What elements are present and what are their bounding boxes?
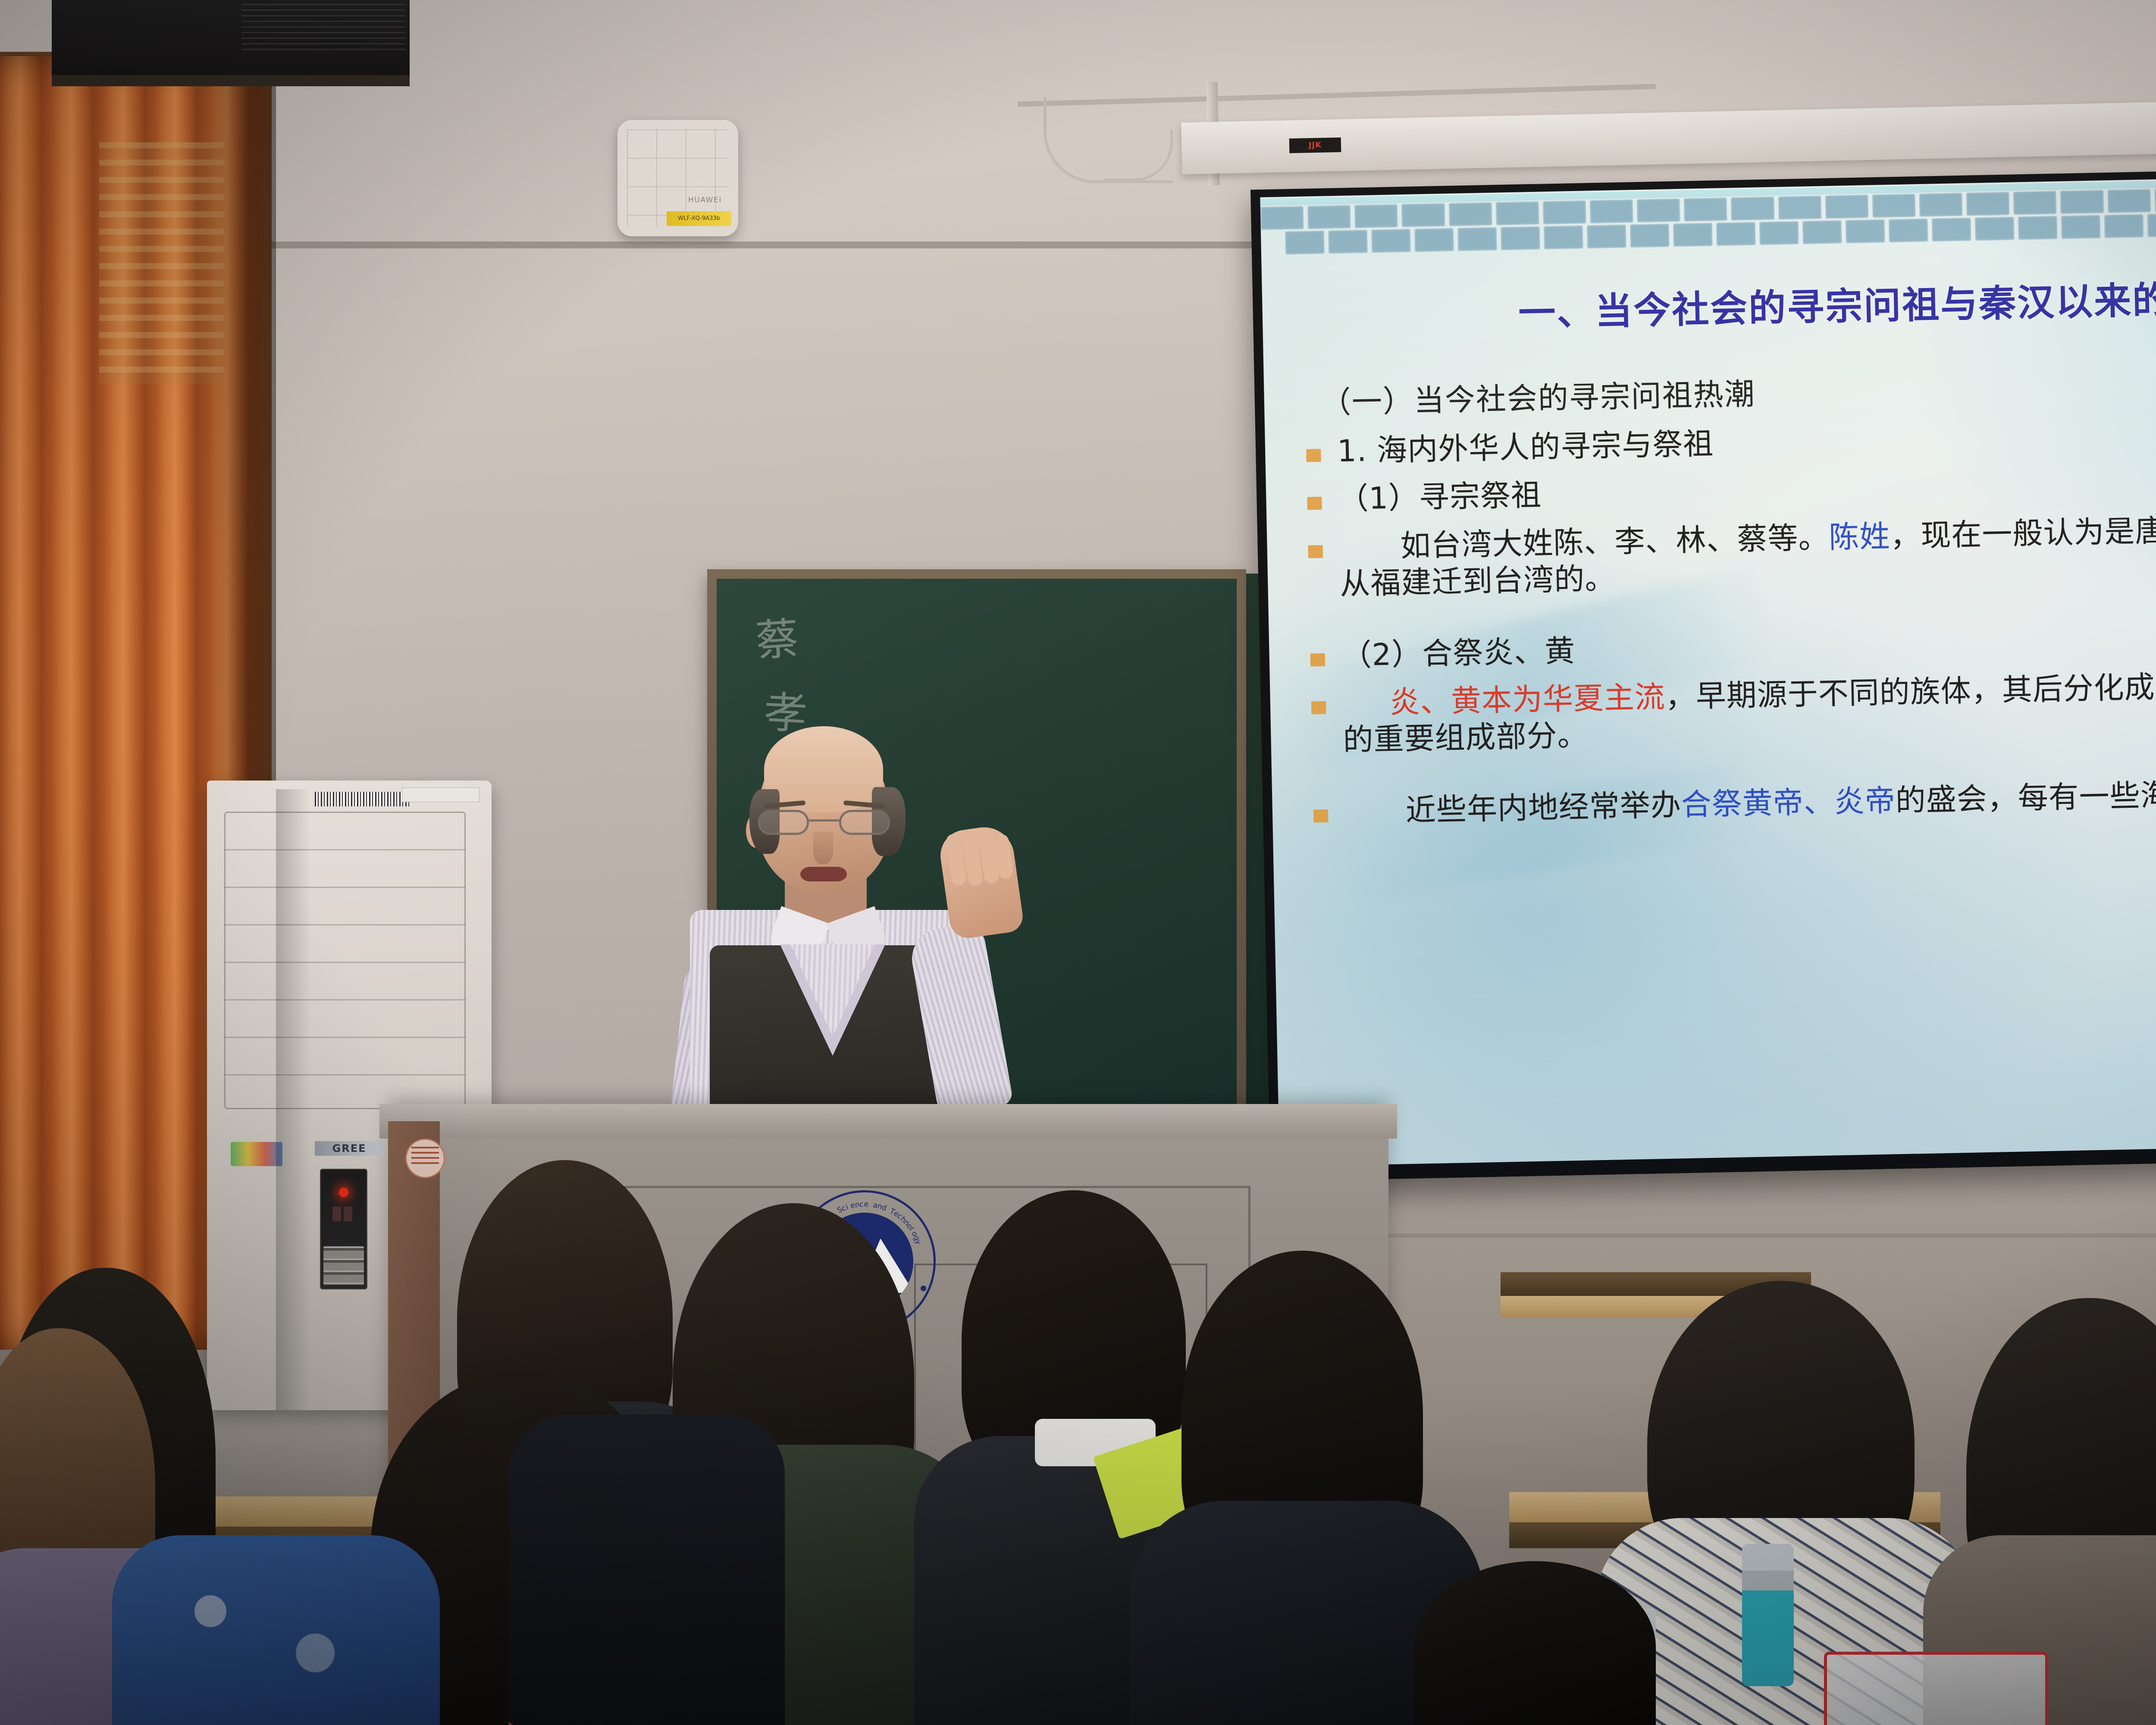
bullet-marker-icon: [1313, 809, 1329, 822]
slide-content: 一、当今社会的寻宗问祖与秦汉以来的姓氏格局 （一）当今社会的寻宗问祖热潮 1. …: [1260, 171, 2156, 1167]
bullet-marker-icon: [1310, 653, 1326, 666]
speaker-grille-icon: [241, 0, 405, 52]
bullet-marker-icon: [1306, 449, 1321, 462]
power-led-icon: [339, 1188, 348, 1197]
jjk-brand-text: JJK: [1309, 141, 1322, 150]
lecture-hall-photo: HUAWEI WLF-XQ-9A33b JJK 蔡 孝 乃: [0, 0, 2156, 1725]
student-neon-graphic-top: [509, 1414, 785, 1725]
ac-button-row[interactable]: [323, 1246, 364, 1285]
para1-highlight-blue: 陈姓: [1829, 518, 1891, 555]
ceiling-speaker: [52, 0, 410, 86]
thermos-teal: [1742, 1544, 1794, 1686]
presenter-raised-hand: [937, 823, 1025, 940]
paragraph-2: 炎、黄本为华夏主流，早期源于不同的族体，其后分化成许多支系，是今天中华民族的重要…: [1342, 661, 2156, 759]
glasses-bridge: [809, 819, 839, 822]
slide-paragraph-line: 炎、黄本为华夏主流，早期源于不同的族体，其后分化成许多支系，是今天中华民族的重要…: [1311, 661, 2156, 759]
chalk-mark: 蔡: [753, 603, 801, 669]
para1-before: 如台湾大姓陈、李、林、蔡等。: [1339, 520, 1829, 565]
bullet-marker-icon: [1311, 701, 1326, 715]
ac-barcode: [315, 792, 410, 806]
paragraph-1: 如台湾大姓陈、李、林、蔡等。陈姓，现在一般认为是唐代由河南固始迁入福建，再从福建…: [1339, 505, 2156, 603]
lens-right: [839, 810, 890, 835]
slide-paragraph-line: 如台湾大姓陈、李、林、蔡等。陈姓，现在一般认为是唐代由河南固始迁入福建，再从福建…: [1308, 505, 2156, 603]
ap-brand-label: HUAWEI: [688, 196, 722, 204]
para2-highlight-red: 炎、黄本为华夏主流: [1389, 679, 1666, 720]
slide-section-heading: （一）当今社会的寻宗问祖热潮: [1320, 354, 2156, 422]
presenter-nose: [813, 831, 833, 864]
presenter: [604, 724, 1061, 1156]
bullet-marker-icon: [1308, 545, 1323, 558]
ac-air-grille: [224, 812, 466, 1109]
slide-title: 一、当今社会的寻宗问祖与秦汉以来的姓氏格局: [1303, 262, 2156, 341]
ac-display-panel[interactable]: [320, 1169, 367, 1289]
projection-screen: 一、当今社会的寻宗问祖与秦汉以来的姓氏格局 （一）当今社会的寻宗问祖热潮 1. …: [1250, 163, 2156, 1182]
ac-brand-logo: GREE: [315, 1141, 384, 1156]
para3-after: 的盛会，每有一些海内外重量级的人物参与。: [1895, 771, 2156, 818]
wifi-access-point: HUAWEI WLF-XQ-9A33b: [617, 120, 738, 236]
bullet-marker-icon: [1307, 497, 1322, 510]
ac-decal-sticker: [231, 1142, 282, 1166]
emblem-arc-char: c: [859, 1200, 864, 1209]
para3-before: 近些年内地经常举办: [1344, 787, 1681, 829]
ac-shadow: [276, 789, 310, 1410]
podium-top-surface: [379, 1104, 1397, 1138]
presenter-bald-scalp: [764, 726, 883, 812]
presentation-slide: 一、当今社会的寻宗问祖与秦汉以来的姓氏格局 （一）当今社会的寻宗问祖热潮 1. …: [1260, 171, 2156, 1167]
ac-digit-readout: [332, 1207, 355, 1221]
ac-spec-label: [402, 787, 479, 802]
para3-highlight-blue: 合祭黄帝、炎帝: [1681, 783, 1896, 822]
lens-left: [758, 810, 809, 835]
presenter-mouth: [800, 867, 847, 881]
screen-border: 一、当今社会的寻宗问祖与秦汉以来的姓氏格局 （一）当今社会的寻宗问祖热潮 1. …: [1250, 163, 2156, 1182]
emblem-arc-char: e: [864, 1200, 869, 1209]
student-hair: [1414, 1561, 1656, 1725]
housing-brand-label: JJK: [1289, 138, 1341, 154]
student-patterned-top: [112, 1535, 440, 1725]
ap-asset-label: WLF-XQ-9A33b: [667, 211, 731, 226]
emblem-dot: [921, 1286, 926, 1291]
asset-sticker: [405, 1138, 445, 1178]
pencil-case: [1824, 1652, 2048, 1725]
emblem-arc-char: [868, 1200, 871, 1209]
